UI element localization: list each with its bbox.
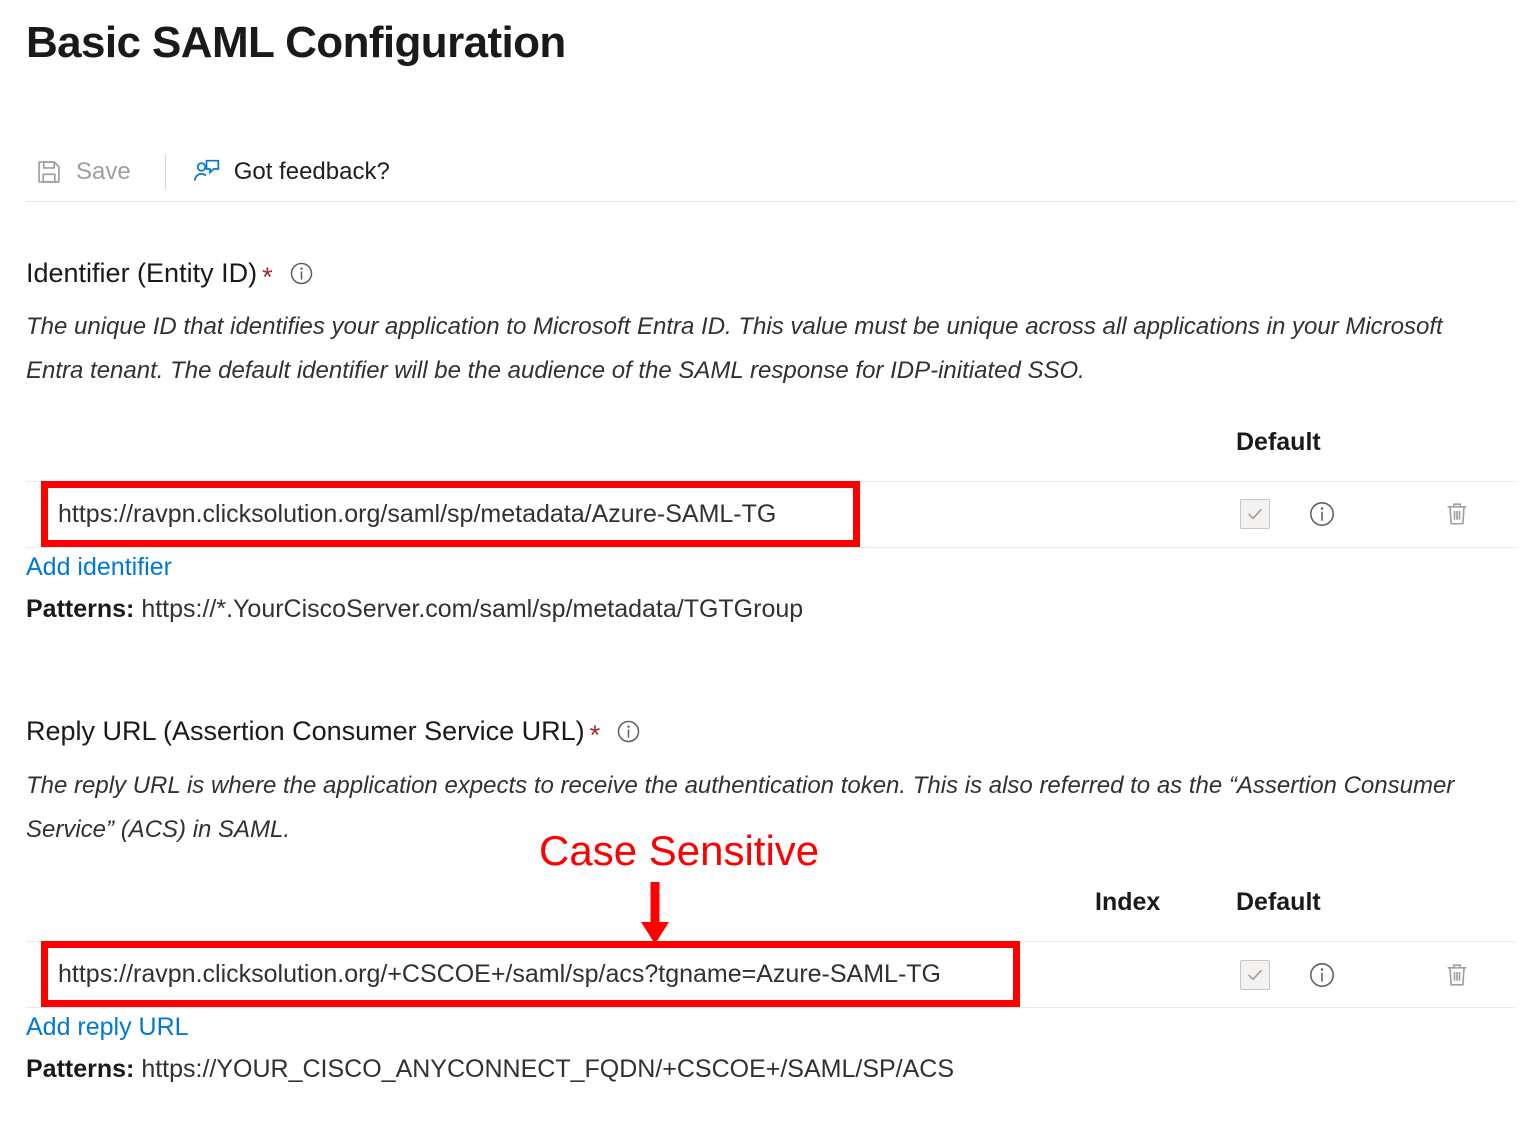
reply-url-column-header-index: Index [1095,888,1160,917]
down-arrow-icon [632,880,678,953]
add-identifier-link[interactable]: Add identifier [26,553,172,582]
reply-url-row-bottom-divider [26,1007,1516,1008]
page-title: Basic SAML Configuration [26,18,566,68]
reply-url-patterns-label: Patterns: [26,1055,134,1083]
toolbar-divider [165,155,166,189]
identifier-row-top-divider [26,481,1516,482]
identifier-value[interactable]: https://ravpn.clicksolution.org/saml/sp/… [58,500,776,529]
reply-url-default-checkbox[interactable] [1240,960,1270,990]
identifier-patterns-value: https://*.YourCiscoServer.com/saml/sp/me… [141,595,803,623]
person-feedback-icon [192,157,222,187]
reply-url-row-top-divider [26,941,1516,942]
command-bar: Save Got feedback? [26,146,402,198]
reply-url-field-label: Reply URL (Assertion Consumer Service UR… [26,716,641,747]
case-sensitive-annotation-text: Case Sensitive [539,827,819,875]
got-feedback-button[interactable]: Got feedback? [184,149,402,195]
reply-url-info-icon[interactable] [616,719,641,744]
save-label: Save [76,158,131,186]
identifier-patterns: Patterns: https://*.YourCiscoServer.com/… [26,595,803,624]
reply-url-patterns: Patterns: https://YOUR_CISCO_ANYCONNECT_… [26,1055,954,1084]
reply-url-label-text: Reply URL (Assertion Consumer Service UR… [26,716,585,747]
add-reply-url-link[interactable]: Add reply URL [26,1013,189,1042]
identifier-required-marker: * [262,264,273,291]
reply-url-value[interactable]: https://ravpn.clicksolution.org/+CSCOE+/… [58,960,941,989]
identifier-column-header-default: Default [1236,428,1321,457]
got-feedback-label: Got feedback? [234,158,390,186]
identifier-description: The unique ID that identifies your appli… [26,305,1486,393]
reply-url-patterns-value: https://YOUR_CISCO_ANYCONNECT_FQDN/+CSCO… [141,1055,954,1083]
identifier-field-label: Identifier (Entity ID) * [26,258,314,289]
reply-url-delete-icon[interactable] [1442,960,1472,990]
identifier-default-checkbox[interactable] [1240,499,1270,529]
identifier-delete-icon[interactable] [1442,499,1472,529]
identifier-label-text: Identifier (Entity ID) [26,258,257,289]
identifier-row-info-icon[interactable] [1308,500,1336,528]
save-floppy-icon [34,157,64,187]
identifier-row-bottom-divider [26,547,1516,548]
toolbar-bottom-divider [26,201,1516,202]
reply-url-column-header-default: Default [1236,888,1321,917]
identifier-patterns-label: Patterns: [26,595,134,623]
identifier-info-icon[interactable] [289,261,314,286]
reply-url-required-marker: * [590,722,601,749]
save-button[interactable]: Save [26,149,143,195]
reply-url-row-info-icon[interactable] [1308,961,1336,989]
